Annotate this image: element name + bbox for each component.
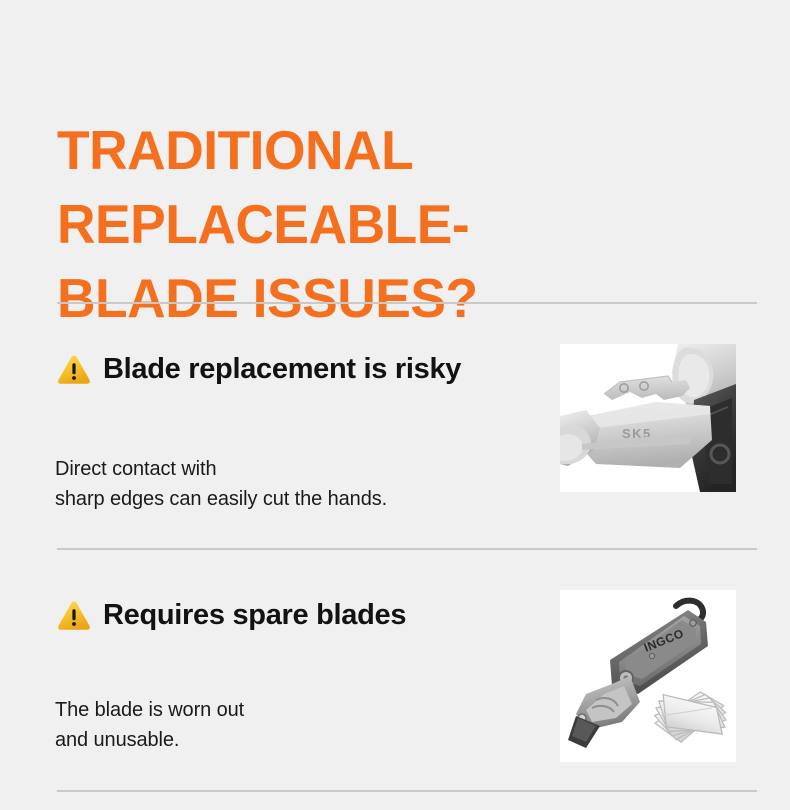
- issue-1-title: Blade replacement is risky: [103, 352, 461, 386]
- warning-triangle-icon: [57, 354, 91, 385]
- divider-top: [57, 302, 757, 304]
- issue-1-description: Direct contact with sharp edges can easi…: [55, 454, 387, 514]
- issue-2-description: The blade is worn out and unusable.: [55, 695, 244, 755]
- divider-bottom: [57, 790, 757, 792]
- issue-1-header: Blade replacement is risky: [57, 352, 461, 386]
- blade-replacement-illustration: SK5: [560, 344, 736, 492]
- issue-2-title: Requires spare blades: [103, 598, 406, 632]
- divider-middle: [57, 548, 757, 550]
- spare-blades-photo: INGCO: [560, 590, 736, 762]
- folding-knife-illustration: INGCO: [560, 590, 736, 762]
- promo-page: TRADITIONAL REPLACEABLE- BLADE ISSUES?: [0, 0, 790, 810]
- issue-2-header: Requires spare blades: [57, 598, 406, 632]
- blade-replacement-photo: SK5: [560, 344, 736, 492]
- warning-triangle-icon: [57, 600, 91, 631]
